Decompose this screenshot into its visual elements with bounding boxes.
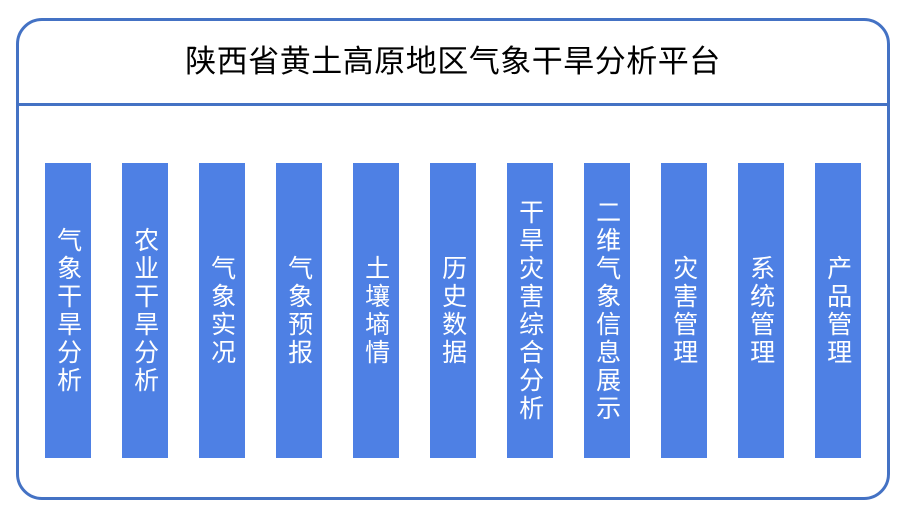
nav-item-label: 历史数据 [438,255,467,367]
nav-item-label: 二维气象信息展示 [592,199,621,423]
nav-item-5[interactable]: 土壤墒情 [353,163,399,458]
nav-item-11[interactable]: 产品管理 [815,163,861,458]
main-navigation: 气象干旱分析农业干旱分析气象实况气象预报土壤墒情历史数据干旱灾害综合分析二维气象… [19,109,887,500]
header-bar: 陕西省黄土高原地区气象干旱分析平台 [19,21,887,106]
nav-item-label: 干旱灾害综合分析 [515,199,544,423]
nav-item-2[interactable]: 农业干旱分析 [122,163,168,458]
nav-item-label: 灾害管理 [669,255,698,367]
nav-item-10[interactable]: 系统管理 [738,163,784,458]
nav-item-8[interactable]: 二维气象信息展示 [584,163,630,458]
nav-item-label: 土壤墒情 [361,255,390,367]
nav-item-label: 产品管理 [823,255,852,367]
nav-item-label: 系统管理 [746,255,775,367]
nav-item-label: 气象实况 [207,255,236,367]
nav-item-7[interactable]: 干旱灾害综合分析 [507,163,553,458]
nav-item-label: 气象预报 [284,255,313,367]
nav-item-label: 气象干旱分析 [53,227,82,395]
nav-item-4[interactable]: 气象预报 [276,163,322,458]
nav-item-6[interactable]: 历史数据 [430,163,476,458]
application-frame: 陕西省黄土高原地区气象干旱分析平台 气象干旱分析农业干旱分析气象实况气象预报土壤… [16,18,890,500]
page-title: 陕西省黄土高原地区气象干旱分析平台 [185,47,721,78]
nav-item-label: 农业干旱分析 [130,227,159,395]
nav-item-3[interactable]: 气象实况 [199,163,245,458]
nav-item-9[interactable]: 灾害管理 [661,163,707,458]
nav-item-1[interactable]: 气象干旱分析 [45,163,91,458]
